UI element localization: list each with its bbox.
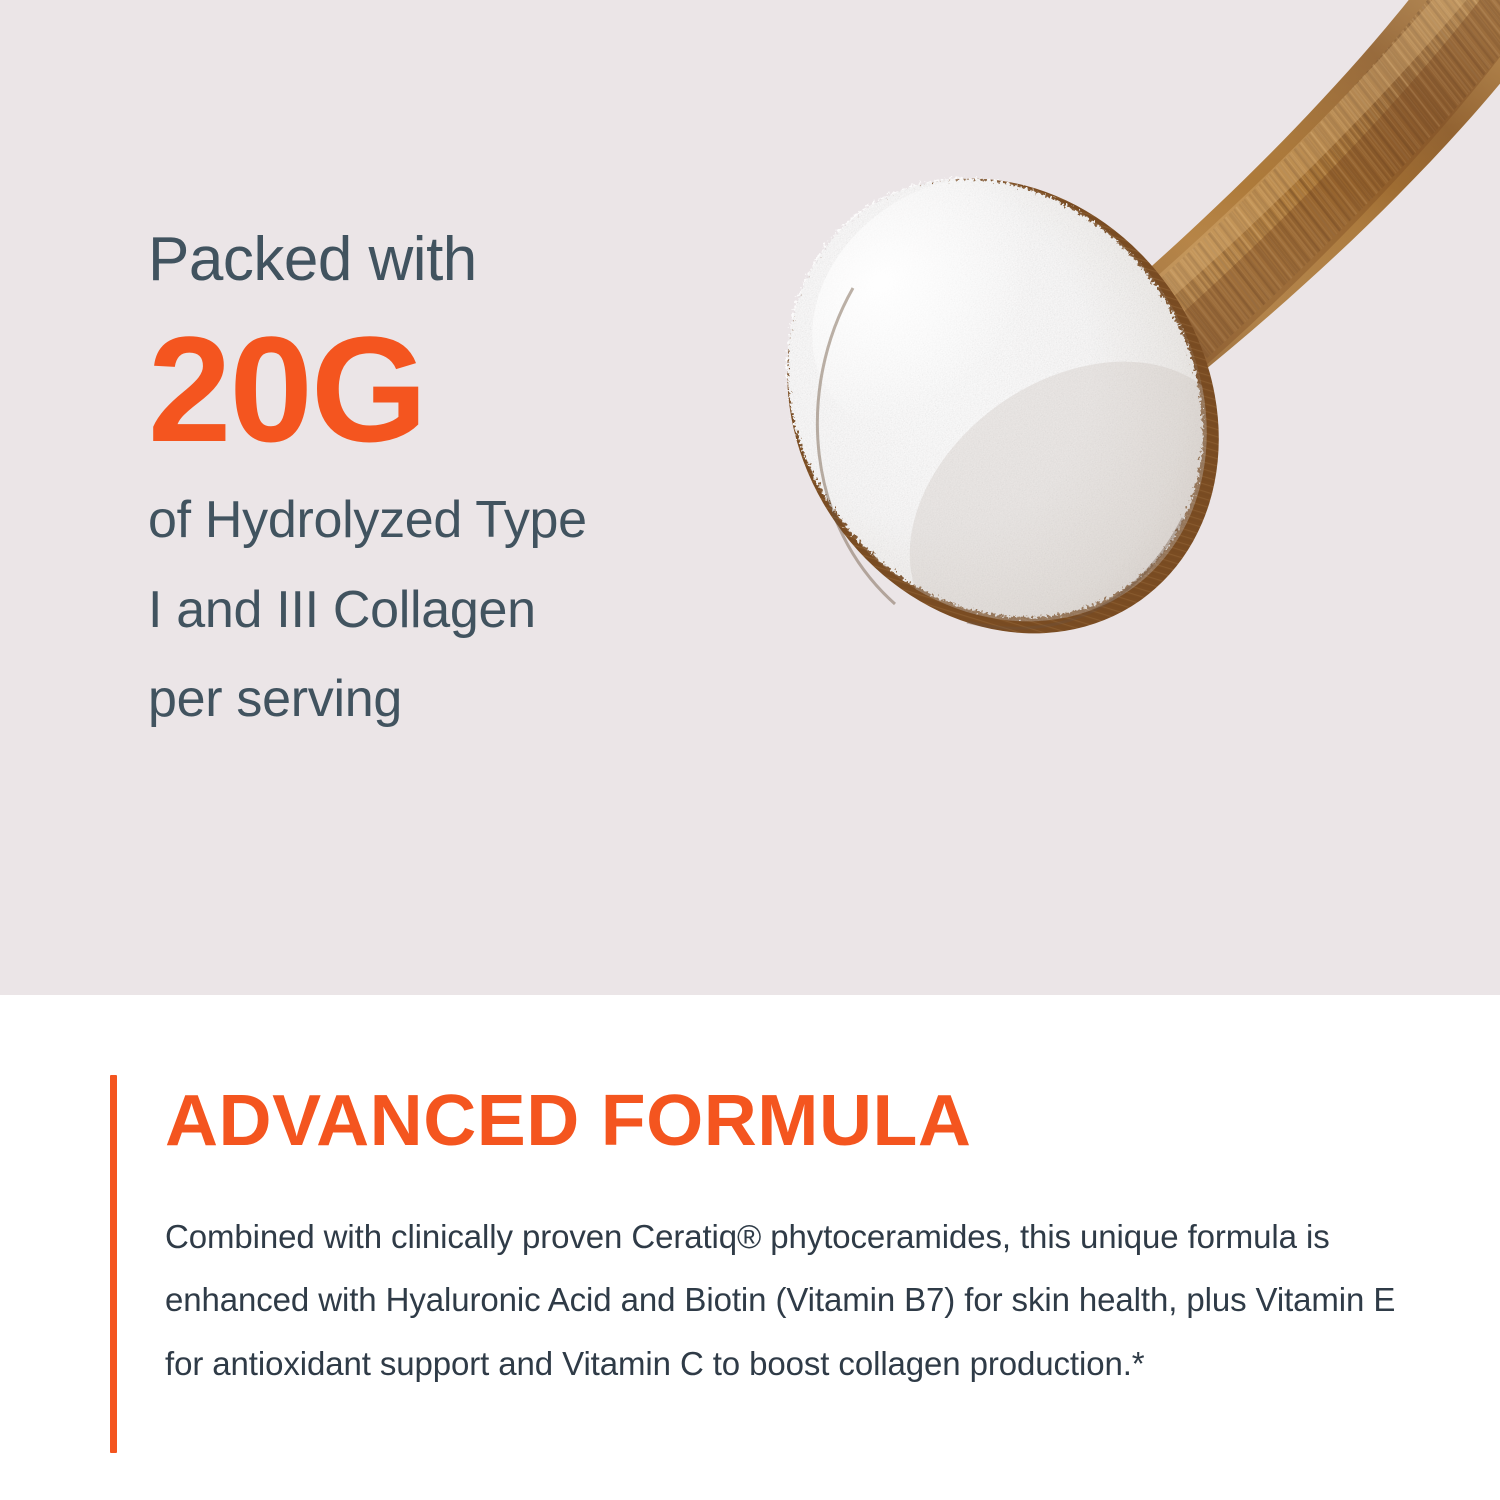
hero-text-block: Packed with 20G of Hydrolyzed Type I and… [148, 228, 768, 745]
section-title: ADVANCED FORMULA [165, 1085, 1450, 1157]
product-feature-page: Packed with 20G of Hydrolyzed Type I and… [0, 0, 1500, 1500]
section-body-text: Combined with clinically proven Ceratiq®… [165, 1205, 1400, 1395]
hero-panel: Packed with 20G of Hydrolyzed Type I and… [0, 0, 1500, 995]
accent-bar [110, 1075, 117, 1453]
hero-subline-line-1: of Hydrolyzed Type [148, 476, 768, 565]
hero-subline-line-2: I and III Collagen [148, 566, 768, 655]
hero-amount: 20G [148, 313, 768, 466]
advanced-formula-panel: ADVANCED FORMULA Combined with clinicall… [0, 995, 1500, 1500]
hero-subline-line-3: per serving [148, 655, 768, 744]
advanced-formula-content: ADVANCED FORMULA Combined with clinicall… [165, 1085, 1425, 1395]
wooden-spoon-image [735, 0, 1500, 910]
hero-kicker: Packed with [148, 228, 768, 291]
